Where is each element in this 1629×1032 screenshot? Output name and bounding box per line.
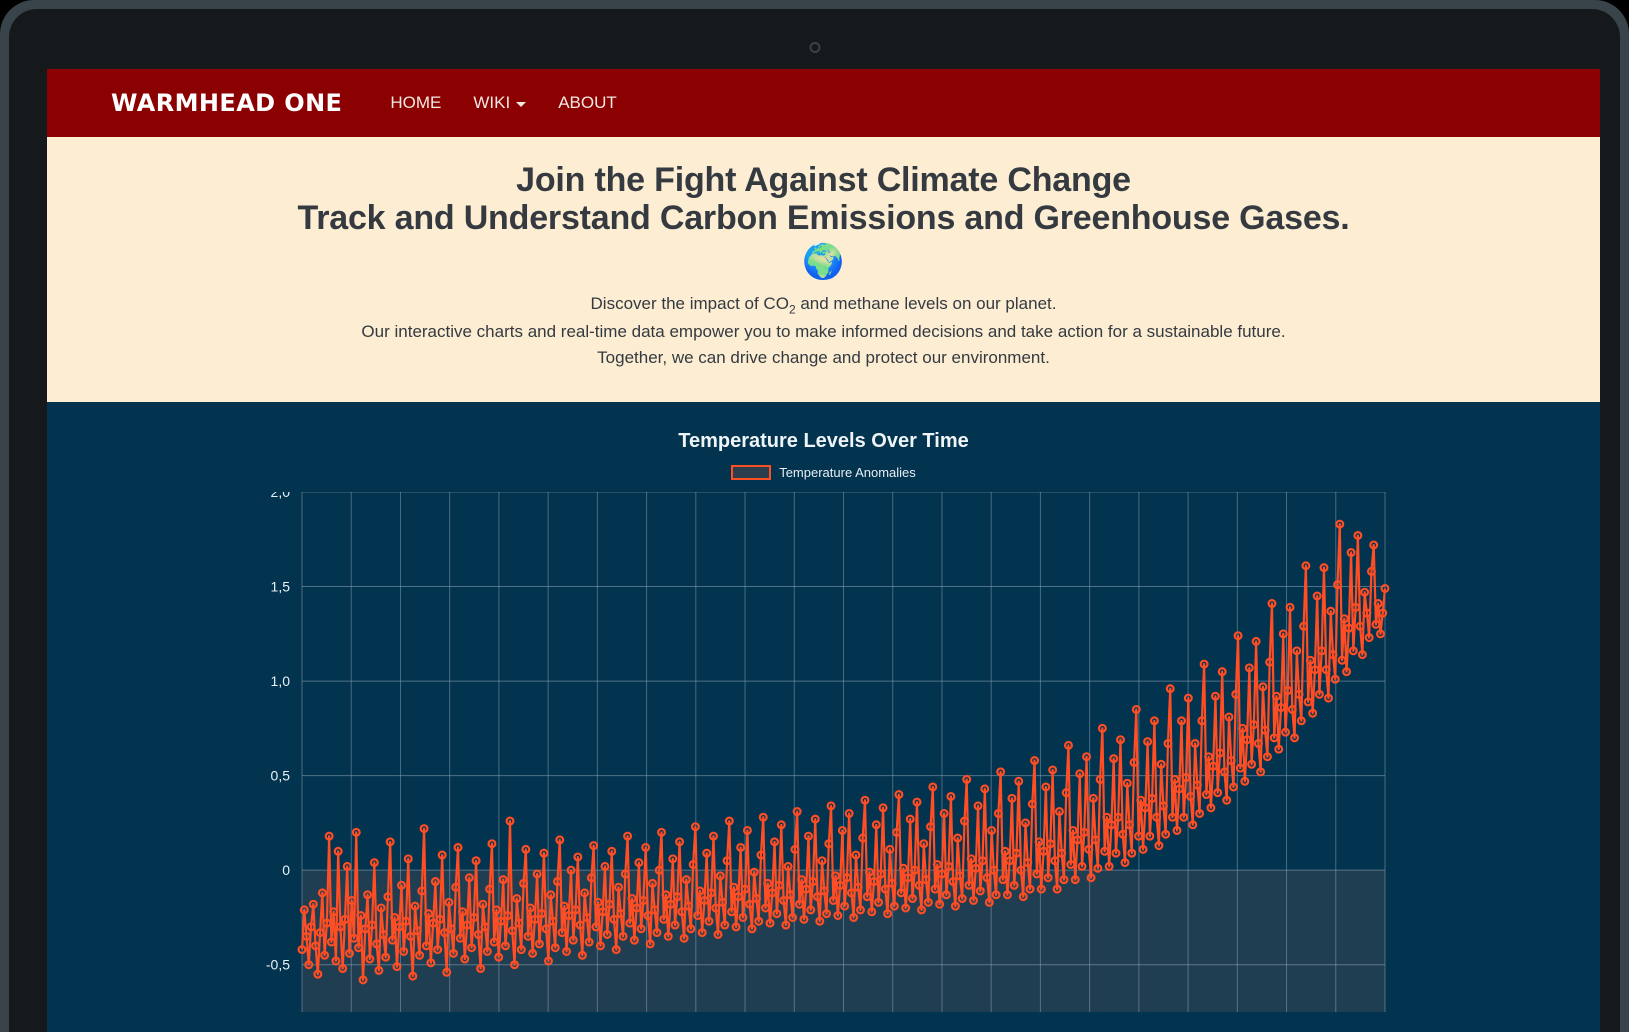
hero-heading-line2: Track and Understand Carbon Emissions an… (67, 199, 1580, 237)
nav-link-home[interactable]: HOME (374, 87, 457, 119)
brand-logo[interactable]: WARMHEAD ONE (111, 89, 342, 117)
nav-link-wiki[interactable]: WIKI (457, 87, 542, 119)
chart-legend[interactable]: Temperature Anomalies (47, 465, 1600, 480)
nav-link-about-label: ABOUT (558, 93, 617, 113)
hero-heading-line1: Join the Fight Against Climate Change (67, 161, 1580, 199)
y-axis-tick-label: 1,0 (271, 673, 291, 689)
top-navbar: WARMHEAD ONE HOME WIKI ABOUT (47, 69, 1600, 137)
y-axis-tick-label: -0,5 (266, 957, 290, 973)
legend-swatch (731, 465, 771, 480)
chart-plot-area[interactable]: 2,01,51,00,50-0,5 (47, 492, 1600, 1012)
y-axis-tick-label: 1,5 (271, 578, 291, 594)
y-axis-tick-label: 0,5 (271, 767, 291, 783)
y-axis-tick-label: 2,0 (271, 492, 291, 500)
globe-icon: 🌍 (67, 245, 1580, 279)
chevron-down-icon (516, 102, 526, 107)
hero-paragraph-1: Discover the impact of CO2 and methane l… (67, 291, 1580, 319)
device-bezel: WARMHEAD ONE HOME WIKI ABOUT Join the Fi… (9, 9, 1620, 1032)
hero-section: Join the Fight Against Climate Change Tr… (47, 137, 1600, 402)
y-axis-tick-label: 0 (282, 862, 290, 878)
nav-link-home-label: HOME (390, 93, 441, 113)
hero-paragraph-3: Together, we can drive change and protec… (67, 345, 1580, 371)
chart-panel: Temperature Levels Over Time Temperature… (47, 402, 1600, 1002)
temperature-anomalies-chart[interactable]: 2,01,51,00,50-0,5 (47, 492, 1600, 1012)
browser-viewport: WARMHEAD ONE HOME WIKI ABOUT Join the Fi… (47, 69, 1600, 1032)
hero-paragraph-2: Our interactive charts and real-time dat… (67, 319, 1580, 345)
camera-dot-icon (809, 42, 820, 53)
nav-link-about[interactable]: ABOUT (542, 87, 633, 119)
legend-label: Temperature Anomalies (779, 465, 916, 480)
chart-title: Temperature Levels Over Time (47, 430, 1600, 453)
nav-link-wiki-label: WIKI (473, 93, 510, 113)
device-frame: WARMHEAD ONE HOME WIKI ABOUT Join the Fi… (0, 0, 1629, 1032)
